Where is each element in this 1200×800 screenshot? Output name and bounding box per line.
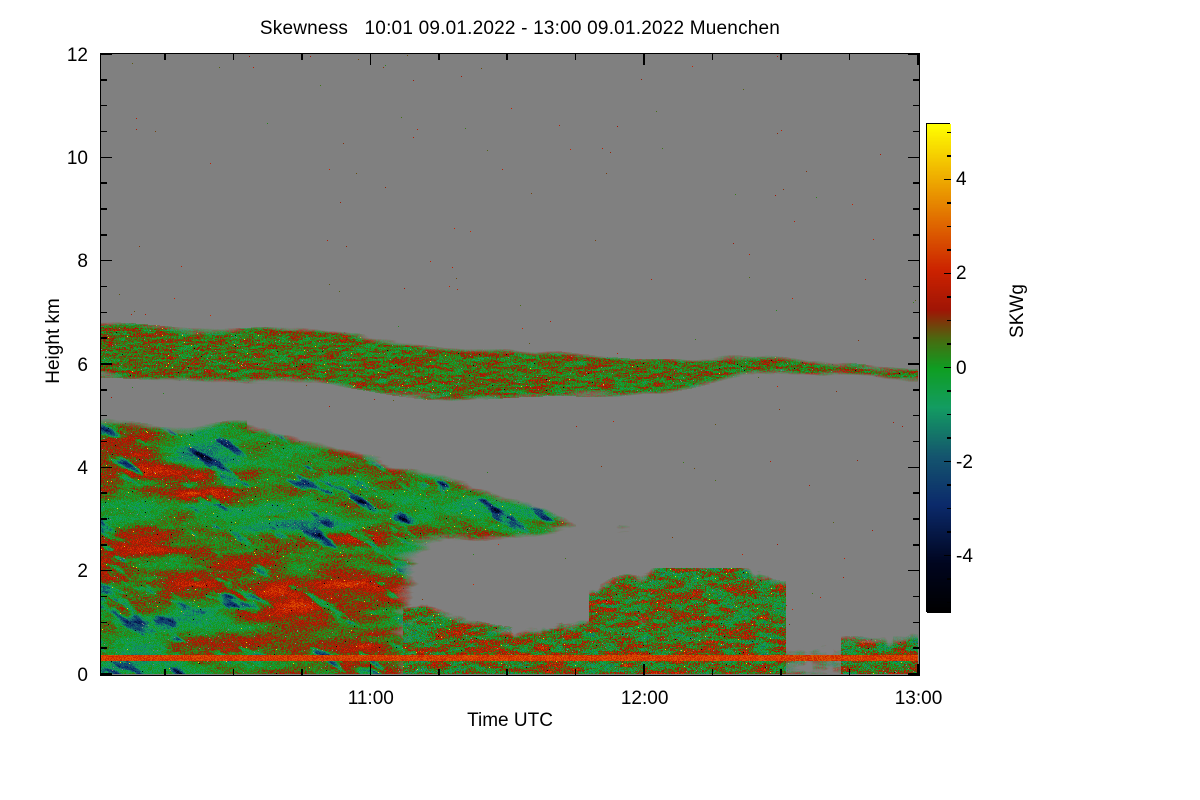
colorbar-tick-0 — [944, 367, 951, 369]
x-tick-top-11 — [370, 54, 372, 65]
y-tick-right-8 — [908, 260, 919, 262]
x-axis-title: Time UTC — [100, 710, 920, 732]
y-tick-label-12: 12 — [8, 46, 88, 65]
y-tick-5.5 — [101, 389, 107, 391]
y-tick-right-4.5 — [913, 441, 919, 443]
skewness-chart-figure: Skewness 10:01 09.01.2022 - 13:00 09.01.… — [0, 0, 1200, 800]
colorbar-tick-4.5 — [947, 155, 951, 157]
colorbar-tick--5 — [947, 602, 951, 604]
y-tick-11 — [101, 105, 107, 107]
colorbar-tick--4 — [944, 555, 951, 557]
x-tick-label-1300: 13:00 — [859, 689, 979, 708]
colorbar-tick--2.5 — [947, 484, 951, 486]
x-tick-11.25 — [438, 669, 440, 675]
y-tick-1 — [101, 622, 107, 624]
y-tick-right-10 — [908, 157, 919, 159]
colorbar-tick-2.5 — [947, 249, 951, 251]
y-tick-right-11.5 — [913, 79, 919, 81]
y-tick-7.5 — [101, 286, 107, 288]
y-tick-4.5 — [101, 441, 107, 443]
y-tick-10.5 — [101, 131, 107, 133]
y-tick-right-2 — [908, 570, 919, 572]
x-tick-top-11.75 — [575, 54, 577, 60]
y-tick-right-3.5 — [913, 492, 919, 494]
x-tick-label-1200: 12:00 — [585, 689, 705, 708]
colorbar-title: SKWg — [1007, 211, 1029, 411]
y-tick-right-6.5 — [913, 337, 919, 339]
y-tick-6 — [101, 363, 112, 365]
colorbar-tick-label-0: 0 — [956, 359, 1002, 378]
y-axis-title: Height km — [43, 241, 65, 441]
y-tick-8.5 — [101, 234, 107, 236]
y-tick-3 — [101, 518, 107, 520]
colorbar-tick-3.5 — [947, 202, 951, 204]
y-tick-right-4 — [908, 467, 919, 469]
y-tick-9.5 — [101, 182, 107, 184]
colorbar-tick-label-4: 4 — [956, 170, 1002, 189]
y-tick-right-1 — [913, 622, 919, 624]
y-tick-label-0: 0 — [8, 666, 88, 685]
y-tick-right-7 — [913, 312, 919, 314]
colorbar-tick-3 — [947, 226, 951, 228]
y-tick-right-6 — [908, 363, 919, 365]
x-tick-11 — [370, 664, 372, 675]
x-tick-11.75 — [575, 669, 577, 675]
y-tick-1.5 — [101, 596, 107, 598]
colorbar: 420-2-4 — [926, 123, 950, 612]
x-tick-top-13 — [917, 54, 919, 65]
y-tick-5 — [101, 415, 107, 417]
x-tick-top-11.25 — [438, 54, 440, 60]
y-tick-2 — [101, 570, 112, 572]
x-tick-10.75 — [301, 669, 303, 675]
plot-area — [100, 53, 920, 676]
colorbar-tick--3 — [947, 508, 951, 510]
x-tick-12.75 — [849, 669, 851, 675]
colorbar-tick-label-minus4: -4 — [956, 547, 1002, 566]
colorbar-tick-2 — [944, 273, 951, 275]
x-tick-top-10.75 — [301, 54, 303, 60]
y-tick-right-10.5 — [913, 131, 919, 133]
colorbar-tick--1.5 — [947, 437, 951, 439]
x-tick-12.25 — [712, 669, 714, 675]
colorbar-tick--1 — [947, 414, 951, 416]
colorbar-tick--3.5 — [947, 531, 951, 533]
colorbar-tick--0.5 — [947, 390, 951, 392]
page-title: Skewness 10:01 09.01.2022 - 13:00 09.01.… — [0, 18, 1040, 40]
x-tick-12 — [643, 664, 645, 675]
y-tick-right-5 — [913, 415, 919, 417]
x-tick-10.25 — [164, 669, 166, 675]
y-tick-8 — [101, 260, 112, 262]
x-tick-top-12.25 — [712, 54, 714, 60]
x-tick-top-11.5 — [506, 54, 508, 60]
colorbar-tick-1 — [947, 320, 951, 322]
colorbar-tick-label-minus2: -2 — [956, 453, 1002, 472]
y-tick-0.5 — [101, 647, 107, 649]
y-tick-right-8.5 — [913, 234, 919, 236]
y-tick-12 — [101, 53, 112, 55]
y-tick-7 — [101, 312, 107, 314]
skewness-heatmap — [101, 54, 918, 674]
y-tick-right-1.5 — [913, 596, 919, 598]
x-tick-13 — [917, 664, 919, 675]
y-tick-2.5 — [101, 544, 107, 546]
x-tick-top-12.5 — [780, 54, 782, 60]
colorbar-canvas — [927, 124, 951, 613]
y-tick-label-2: 2 — [8, 562, 88, 581]
x-tick-12.5 — [780, 669, 782, 675]
y-tick-right-9.5 — [913, 182, 919, 184]
colorbar-tick-0.5 — [947, 343, 951, 345]
y-tick-right-7.5 — [913, 286, 919, 288]
y-tick-3.5 — [101, 492, 107, 494]
y-tick-right-3 — [913, 518, 919, 520]
x-tick-10.5 — [233, 669, 235, 675]
y-tick-4 — [101, 467, 112, 469]
y-tick-right-9 — [913, 208, 919, 210]
colorbar-tick-1.5 — [947, 296, 951, 298]
y-tick-right-0.5 — [913, 647, 919, 649]
x-tick-top-10.25 — [164, 54, 166, 60]
colorbar-tick-4 — [944, 179, 951, 181]
y-tick-right-2.5 — [913, 544, 919, 546]
colorbar-tick--2 — [944, 461, 951, 463]
y-tick-right-11 — [913, 105, 919, 107]
y-tick-10 — [101, 157, 112, 159]
colorbar-tick-5 — [947, 132, 951, 134]
x-tick-top-12.75 — [849, 54, 851, 60]
y-tick-label-10: 10 — [8, 149, 88, 168]
x-tick-11.5 — [506, 669, 508, 675]
x-tick-top-10.5 — [233, 54, 235, 60]
colorbar-tick--4.5 — [947, 578, 951, 580]
colorbar-tick-label-2: 2 — [956, 264, 1002, 283]
x-tick-top-12 — [643, 54, 645, 65]
y-tick-0 — [101, 673, 112, 675]
x-tick-label-1100: 11:00 — [311, 689, 431, 708]
y-tick-11.5 — [101, 79, 107, 81]
y-tick-label-4: 4 — [8, 459, 88, 478]
y-tick-9 — [101, 208, 107, 210]
y-tick-6.5 — [101, 337, 107, 339]
y-tick-right-5.5 — [913, 389, 919, 391]
